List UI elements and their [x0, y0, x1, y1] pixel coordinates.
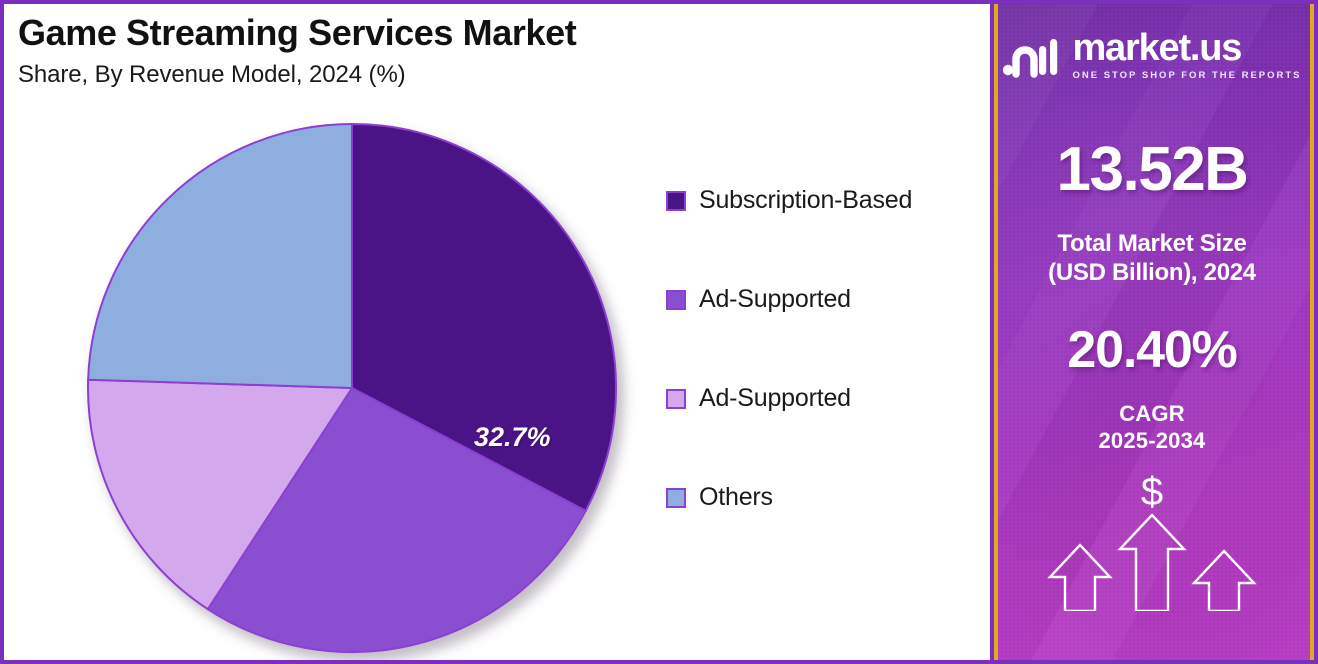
- pie-data-label: 32.7%: [474, 422, 551, 453]
- dollar-sign-icon: $: [1141, 471, 1163, 514]
- chart-panel: Game Streaming Services Market Share, By…: [4, 4, 990, 660]
- title-block: Game Streaming Services Market Share, By…: [18, 14, 576, 89]
- legend-item[interactable]: Subscription-Based: [666, 186, 912, 215]
- chart-legend: Subscription-BasedAd-SupportedAd-Support…: [666, 186, 912, 512]
- panel-left-purple-edge: [990, 4, 994, 660]
- market-size-value: 13.52B: [1057, 139, 1248, 201]
- legend-swatch-icon: [666, 290, 686, 310]
- pie-chart-svg: [86, 122, 618, 654]
- logo-text-block: market.us ONE STOP SHOP FOR THE REPORTS: [1072, 30, 1301, 81]
- cagr-value: 20.40%: [1067, 324, 1236, 376]
- legend-swatch-icon: [666, 389, 686, 409]
- infographic-root: Game Streaming Services Market Share, By…: [0, 0, 1318, 664]
- legend-item[interactable]: Ad-Supported: [666, 285, 912, 314]
- pie-slice-group: [88, 124, 616, 652]
- legend-item[interactable]: Others: [666, 483, 912, 512]
- logo-wordmark: market.us: [1072, 30, 1301, 66]
- brand-content: market.us ONE STOP SHOP FOR THE REPORTS …: [990, 4, 1314, 660]
- cagr-label-line2: 2025-2034: [1098, 427, 1205, 455]
- legend-swatch-icon: [666, 191, 686, 211]
- market-size-label-line2: (USD Billion), 2024: [1048, 258, 1256, 287]
- logo-tagline: ONE STOP SHOP FOR THE REPORTS: [1072, 70, 1301, 81]
- pie-slice[interactable]: [88, 124, 352, 388]
- legend-item-label: Others: [699, 483, 773, 512]
- legend-swatch-icon: [666, 488, 686, 508]
- market-size-label: Total Market Size (USD Billion), 2024: [1048, 229, 1256, 288]
- panel-left-gold-accent: [994, 4, 998, 660]
- growth-arrows-graphic: $: [1032, 471, 1272, 611]
- up-arrow-right-icon: [1194, 551, 1254, 611]
- panel-right-gold-accent: [1310, 4, 1314, 660]
- page-subtitle: Share, By Revenue Model, 2024 (%): [18, 61, 576, 89]
- up-arrow-left-icon: [1050, 545, 1110, 611]
- pie-chart: 32.7%: [86, 122, 618, 654]
- market-us-logo[interactable]: market.us ONE STOP SHOP FOR THE REPORTS: [1002, 30, 1301, 81]
- page-title: Game Streaming Services Market: [18, 14, 576, 53]
- legend-item-label: Ad-Supported: [699, 384, 851, 413]
- up-arrow-center-icon: [1120, 515, 1184, 611]
- legend-item[interactable]: Ad-Supported: [666, 384, 912, 413]
- market-us-logo-mark-icon: [1002, 34, 1060, 78]
- cagr-label: CAGR 2025-2034: [1098, 400, 1205, 455]
- market-size-label-line1: Total Market Size: [1048, 229, 1256, 258]
- cagr-label-line1: CAGR: [1098, 400, 1205, 428]
- legend-item-label: Subscription-Based: [699, 186, 912, 215]
- legend-item-label: Ad-Supported: [699, 285, 851, 314]
- brand-stats-panel: market.us ONE STOP SHOP FOR THE REPORTS …: [990, 4, 1314, 660]
